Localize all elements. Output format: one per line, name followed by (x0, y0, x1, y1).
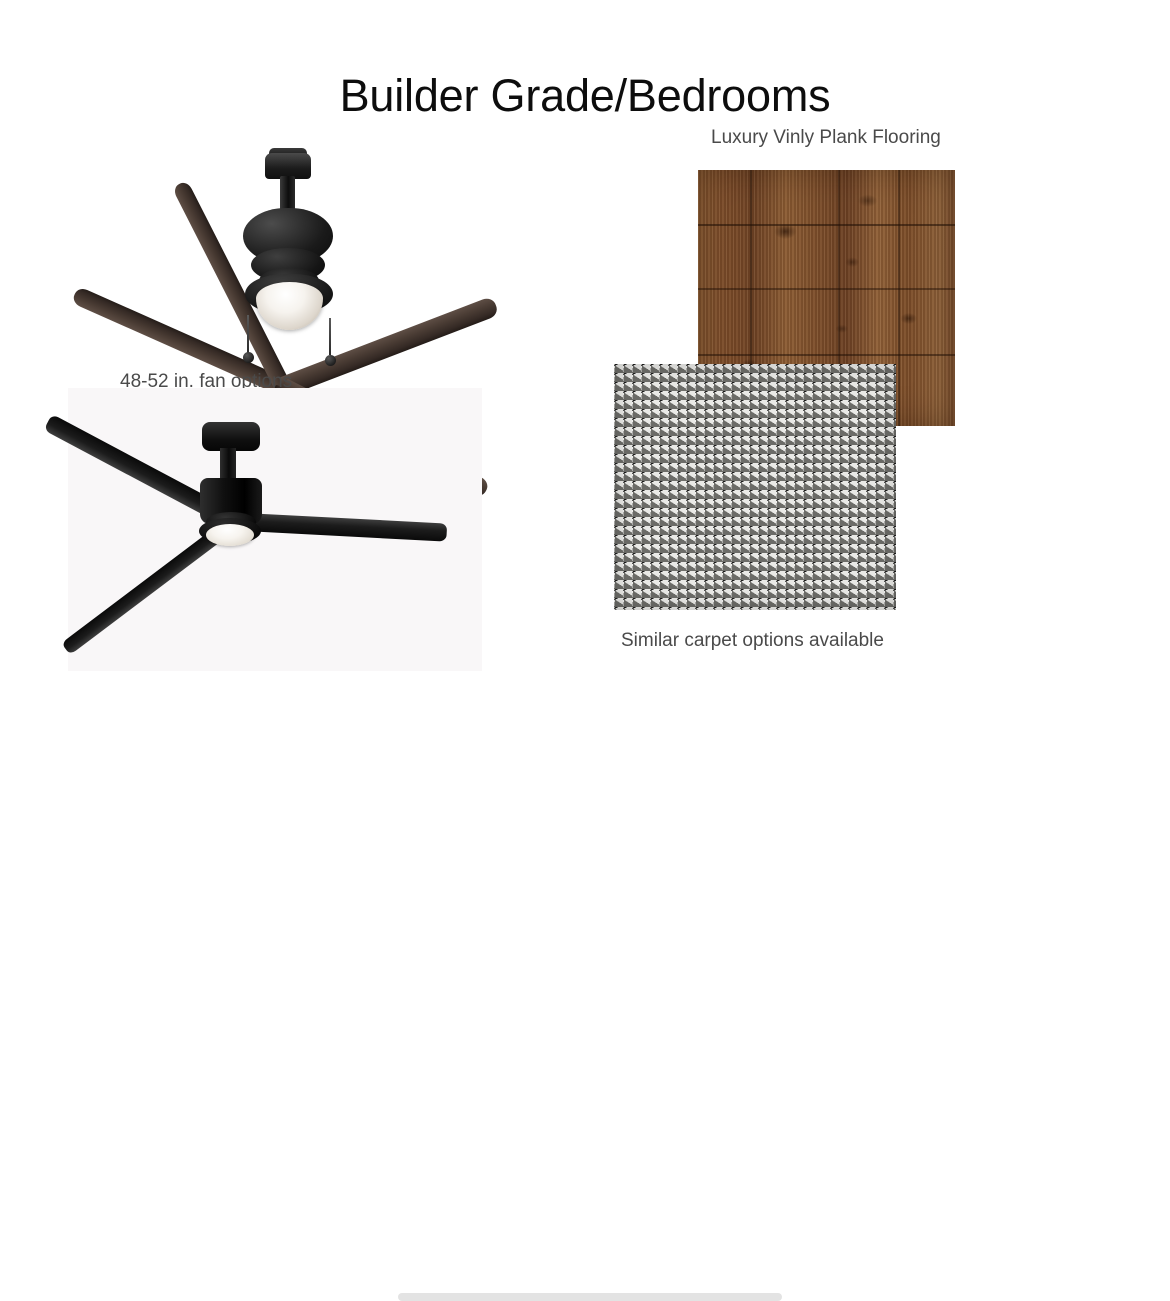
fan-light-dome (256, 282, 323, 330)
fan-led-light (206, 524, 254, 546)
fan-pull-chain (247, 315, 249, 355)
fan-pull-chain (329, 318, 331, 355)
fan-blade (235, 512, 448, 541)
horizontal-scrollbar-thumb[interactable] (398, 1293, 782, 1301)
fan-pull-chain-knob (243, 352, 254, 363)
ceiling-fan-upper-image (0, 140, 540, 385)
horizontal-scrollbar-track[interactable] (0, 645, 1170, 659)
page-title: Builder Grade/Bedrooms (0, 68, 1170, 124)
ceiling-fan-lower-image (60, 420, 500, 610)
carpet-swatch (614, 364, 896, 610)
slide-canvas: Builder Grade/Bedrooms 48-52 in. fan opt… (0, 0, 1170, 671)
fan-downrod (220, 448, 236, 482)
caption-luxury-vinyl-plank: Luxury Vinly Plank Flooring (711, 127, 941, 149)
fan-canopy (202, 422, 260, 451)
fan-downrod (280, 176, 295, 212)
fan-pull-chain-knob (325, 355, 336, 366)
